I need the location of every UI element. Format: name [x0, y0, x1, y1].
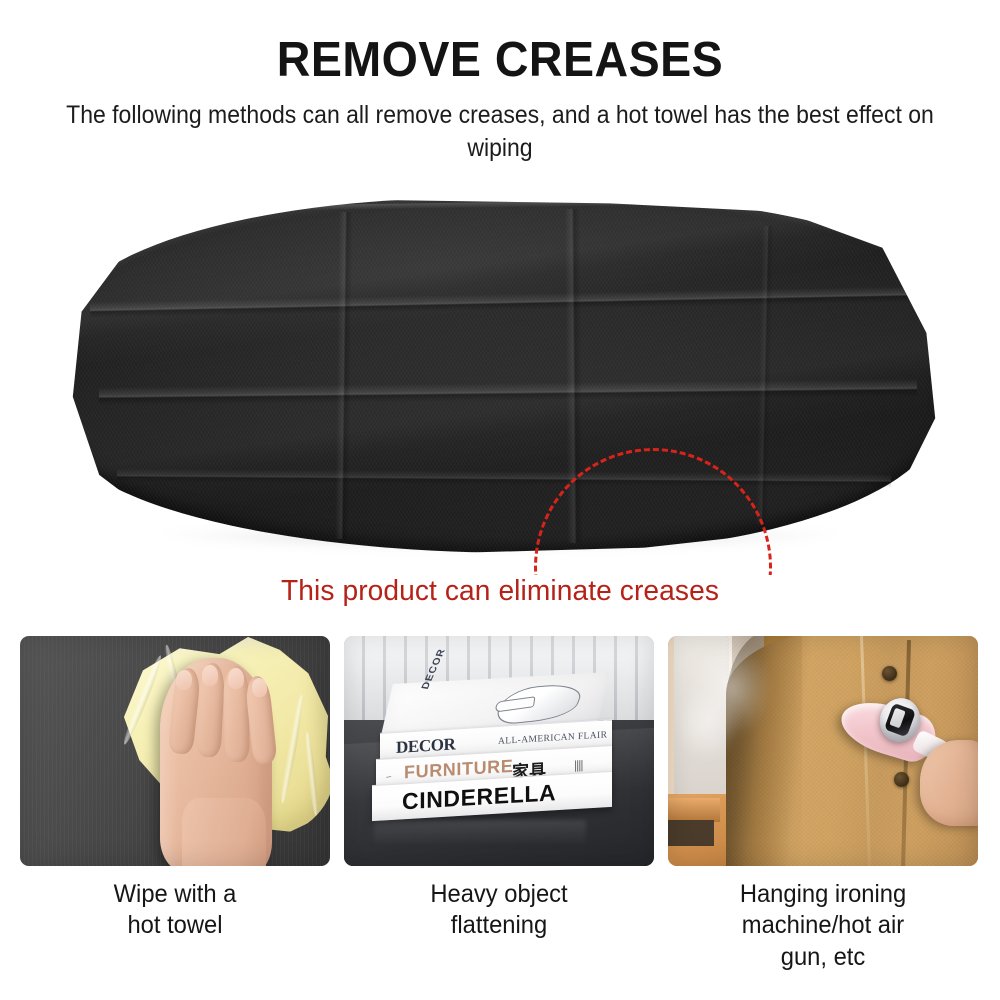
card-caption-line: Heavy object	[352, 879, 647, 910]
book-stack: DECOR DECOR ALL-AMERICAN FLAIR − FURNITU…	[370, 678, 622, 818]
card-caption-line: gun, etc	[676, 942, 971, 973]
page-title: REMOVE CREASES	[25, 0, 975, 85]
card-caption-line: hot towel	[28, 910, 323, 941]
methods-card-row: Wipe with a hot towel DECOR DECO	[20, 636, 980, 973]
fingernail	[228, 668, 244, 689]
photo-handheld-steamer-on-coat	[668, 636, 978, 866]
desk-reflection	[374, 820, 586, 846]
photo-stack-of-books: DECOR DECOR ALL-AMERICAN FLAIR − FURNITU…	[344, 636, 654, 866]
wrist	[182, 798, 266, 866]
fingernail	[201, 665, 218, 687]
book-title: CINDERELLA	[402, 779, 556, 815]
wooden-frame	[668, 798, 720, 822]
method-card-heavy-object: DECOR DECOR ALL-AMERICAN FLAIR − FURNITU…	[344, 636, 654, 973]
header-block: REMOVE CREASES The following methods can…	[0, 0, 1000, 164]
card-caption: Hanging ironing machine/hot air gun, etc	[676, 866, 971, 973]
card-caption-line: machine/hot air	[676, 910, 971, 941]
card-caption-line: Wipe with a	[28, 879, 323, 910]
method-card-hot-towel: Wipe with a hot towel	[20, 636, 330, 973]
coat-button	[894, 772, 909, 787]
method-card-steamer: Hanging ironing machine/hot air gun, etc	[668, 636, 978, 973]
mat-woven-texture	[64, 198, 944, 553]
annotation-label: This product can eliminate creases	[15, 575, 985, 608]
card-caption-line: flattening	[352, 910, 647, 941]
book-subtitle: ALL-AMERICAN FLAIR	[498, 730, 607, 746]
product-mat	[64, 198, 944, 553]
photo-hand-wiping-with-hot-towel	[20, 636, 330, 866]
card-caption: Wipe with a hot towel	[28, 866, 323, 942]
wooden-frame-shadow	[668, 820, 714, 846]
page-subtitle: The following methods can all remove cre…	[40, 85, 960, 164]
hero-product-photo	[0, 180, 1000, 575]
card-caption-line: Hanging ironing	[676, 879, 971, 910]
product-infographic-page: REMOVE CREASES The following methods can…	[0, 0, 1000, 1000]
steam-wisp	[676, 688, 736, 760]
card-caption: Heavy object flattening	[352, 866, 647, 942]
book-spine-mark: −	[385, 772, 392, 784]
book-spine-marks: ||||	[574, 758, 582, 773]
coat-button	[882, 666, 897, 681]
